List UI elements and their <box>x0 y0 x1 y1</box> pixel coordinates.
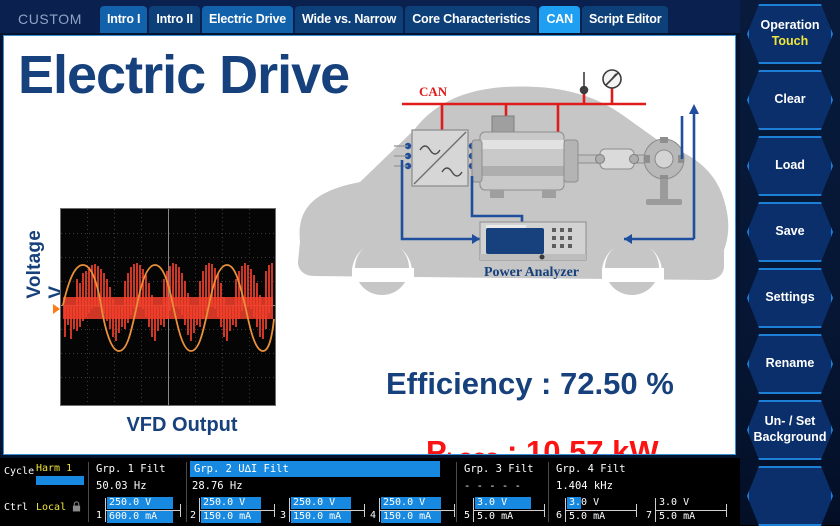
tab-wide-vs-narrow[interactable]: Wide vs. Narrow <box>295 6 403 33</box>
channel-7-voltage: 3.0 V <box>657 497 713 509</box>
tab-intro-i[interactable]: Intro I <box>100 6 147 33</box>
inverter-icon <box>412 130 468 186</box>
softkey-clear-label: Clear <box>774 92 805 108</box>
efficiency-readout: Efficiency : 72.50 % <box>386 366 674 402</box>
softkey-settings-label: Settings <box>765 290 814 306</box>
efficiency-value: 72.50 % <box>560 366 674 401</box>
channel-3-current: 150.0 mA <box>291 511 351 523</box>
softkey-operation-value: Touch <box>772 34 809 50</box>
status-divider <box>88 462 89 522</box>
tab-intro-ii[interactable]: Intro II <box>149 6 200 33</box>
group-4-frequency: 1.404 kHz <box>556 480 613 492</box>
lock-icon <box>72 501 81 512</box>
tab-script-editor[interactable]: Script Editor <box>582 6 668 33</box>
tab-can[interactable]: CAN <box>539 6 579 33</box>
power-loss-label: P <box>426 434 447 455</box>
tab-bar: CUSTOM Intro I Intro II Electric Drive W… <box>0 0 740 33</box>
softkey-save[interactable]: Save <box>747 202 833 262</box>
channel-7-current: 5.0 mA <box>657 511 713 523</box>
application-window: CUSTOM Intro I Intro II Electric Drive W… <box>0 0 840 525</box>
group-2-frequency: 28.76 Hz <box>192 480 243 492</box>
scope-caption: VFD Output <box>82 414 282 437</box>
power-loss-subscript: LOSS <box>447 450 499 455</box>
cycle-label: Cycle <box>4 466 34 477</box>
softkey-operation[interactable]: Operation Touch <box>747 4 833 64</box>
channel-3-voltage: 250.0 V <box>291 497 351 509</box>
channel-4-number: 4 <box>370 510 376 521</box>
softkey-rename[interactable]: Rename <box>747 334 833 394</box>
drivetrain-diagram: CAN <box>294 54 734 319</box>
channel-2-voltage: 250.0 V <box>201 497 261 509</box>
tab-core-characteristics[interactable]: Core Characteristics <box>405 6 537 33</box>
group-4-header[interactable]: Grp. 4 Filt <box>556 463 626 475</box>
softkey-load[interactable]: Load <box>747 136 833 196</box>
softkey-settings[interactable]: Settings <box>747 268 833 328</box>
efficiency-label: Efficiency : <box>386 366 560 401</box>
channel-4-voltage: 250.0 V <box>381 497 441 509</box>
power-analyzer-label: Power Analyzer <box>484 265 579 280</box>
softkey-rename-label: Rename <box>766 356 815 372</box>
status-left-block: Cycle Harm 1 Ctrl Local <box>0 458 88 525</box>
group-2-header[interactable]: Grp. 2 U∆I Filt <box>190 461 440 477</box>
main-canvas[interactable]: Electric Drive <box>3 35 736 455</box>
softkey-set-background-label2: Background <box>754 430 827 446</box>
channel-5-current: 5.0 mA <box>475 511 531 523</box>
channel-2-current: 150.0 mA <box>201 511 261 523</box>
channel-5-voltage: 3.0 V <box>475 497 531 509</box>
channel-6-voltage: 3.0 V <box>567 497 581 509</box>
softkey-set-background[interactable]: Un- / Set Background <box>747 400 833 460</box>
channel-4-current: 150.0 mA <box>381 511 441 523</box>
cycle-value[interactable]: Harm 1 <box>36 463 72 474</box>
cycle-bar <box>36 476 84 485</box>
power-loss-readout: PLOSS : 10.57 kW <box>426 434 659 455</box>
group-3-header[interactable]: Grp. 3 Filt <box>464 463 534 475</box>
ctrl-value[interactable]: Local <box>36 502 66 513</box>
tab-electric-drive[interactable]: Electric Drive <box>202 6 293 33</box>
power-loss-value: : 10.57 kW <box>498 434 658 455</box>
channel-7-number: 7 <box>646 510 652 521</box>
trigger-marker-icon <box>53 304 60 314</box>
channel-2-number: 2 <box>190 510 196 521</box>
channel-6-current: 5.0 mA <box>567 511 623 523</box>
channel-3-number: 3 <box>280 510 286 521</box>
ctrl-label: Ctrl <box>4 502 28 513</box>
softkey-save-label: Save <box>775 224 804 240</box>
channel-6-number: 6 <box>556 510 562 521</box>
softkey-empty[interactable] <box>747 466 833 526</box>
group-1-header[interactable]: Grp. 1 Filt <box>96 463 166 475</box>
group-3-frequency: - - - - - <box>464 480 521 492</box>
custom-label: CUSTOM <box>18 12 98 33</box>
channel-5-number: 5 <box>464 510 470 521</box>
can-bus-label: CAN <box>419 84 448 99</box>
channel-1-voltage: 250.0 V <box>107 497 173 509</box>
softkey-operation-label: Operation <box>760 18 819 34</box>
channel-1-number: 1 <box>96 510 102 521</box>
power-analyzer-icon <box>480 222 586 260</box>
softkey-clear[interactable]: Clear <box>747 70 833 130</box>
status-bar: Cycle Harm 1 Ctrl Local Grp. 1 Filt 50.0… <box>0 458 740 525</box>
softkey-load-label: Load <box>775 158 805 174</box>
soft-key-panel: Operation Touch Clear Load Save Settings… <box>740 0 840 525</box>
group-1-frequency: 50.03 Hz <box>96 480 147 492</box>
sensor-icons <box>581 70 622 94</box>
channel-1-current: 600.0 mA <box>107 511 173 523</box>
scope-display[interactable] <box>60 208 276 406</box>
softkey-set-background-label: Un- / Set <box>765 414 816 430</box>
